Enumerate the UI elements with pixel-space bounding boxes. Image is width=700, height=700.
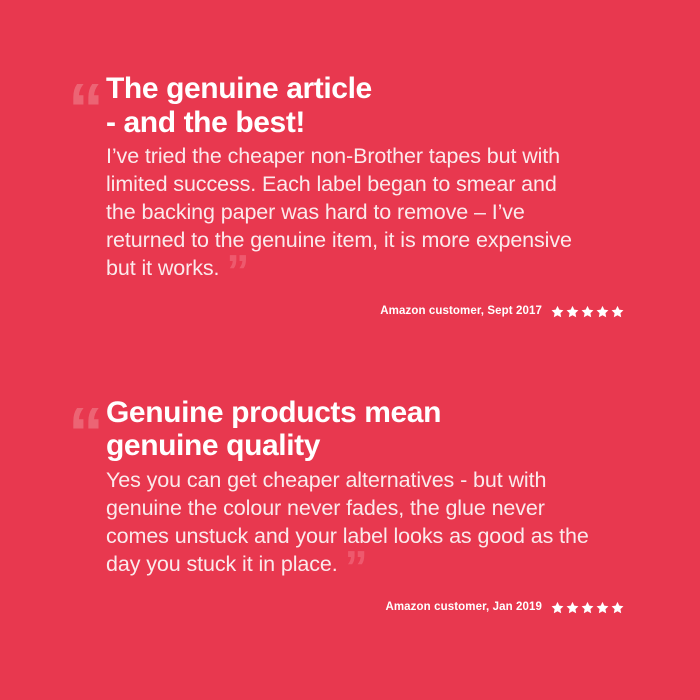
testimonial-block-2: “ Genuine products mean genuine quality … [62, 396, 638, 614]
testimonial-heading-2-line-2: genuine quality [106, 429, 606, 463]
testimonial-attribution-1: Amazon customer, Sept 2017 [106, 305, 638, 318]
star-icon [596, 601, 609, 614]
attribution-name-1: Amazon customer, Sept 2017 [380, 305, 542, 317]
testimonial-body-1: I’ve tried the cheaper non-Brother tapes… [106, 143, 592, 283]
testimonial-heading-1-line-1: The genuine article [106, 72, 606, 106]
testimonial-content-1: The genuine article - and the best! I’ve… [62, 72, 638, 318]
open-quote-icon: “ [68, 398, 102, 470]
attribution-name-2: Amazon customer, Jan 2019 [385, 601, 542, 613]
testimonial-heading-1: The genuine article - and the best! [106, 72, 606, 139]
star-icon [551, 305, 564, 318]
star-icon [611, 601, 624, 614]
testimonial-attribution-2: Amazon customer, Jan 2019 [106, 601, 638, 614]
testimonial-body-1-text: I’ve tried the cheaper non-Brother tapes… [106, 144, 572, 280]
star-icon [596, 305, 609, 318]
open-quote-icon: “ [68, 74, 102, 146]
star-icon [566, 305, 579, 318]
testimonial-heading-2-line-1: Genuine products mean [106, 396, 606, 430]
star-icon [581, 601, 594, 614]
testimonials-card: “ The genuine article - and the best! I’… [0, 0, 700, 700]
star-icon [566, 601, 579, 614]
testimonial-body-2: Yes you can get cheaper alternatives - b… [106, 467, 592, 579]
testimonial-block-1: “ The genuine article - and the best! I’… [62, 72, 638, 318]
testimonial-content-2: Genuine products mean genuine quality Ye… [62, 396, 638, 614]
star-icon [581, 305, 594, 318]
star-icon [551, 601, 564, 614]
star-rating-1 [551, 305, 624, 318]
testimonial-heading-2: Genuine products mean genuine quality [106, 396, 606, 463]
star-rating-2 [551, 601, 624, 614]
star-icon [611, 305, 624, 318]
testimonial-heading-1-line-2: - and the best! [106, 106, 606, 140]
